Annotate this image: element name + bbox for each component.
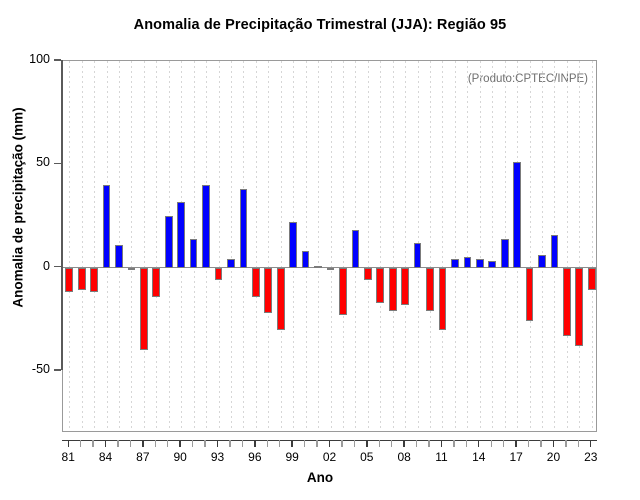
grid-line bbox=[405, 61, 406, 431]
x-tick bbox=[366, 440, 367, 447]
bar-22 bbox=[575, 268, 583, 347]
x-tick-label: 08 bbox=[389, 450, 419, 464]
bar-13 bbox=[464, 257, 472, 267]
x-tick bbox=[80, 440, 81, 447]
grid-line bbox=[430, 61, 431, 431]
bar-98 bbox=[277, 268, 285, 330]
bar-81 bbox=[65, 268, 73, 293]
grid-line bbox=[455, 61, 456, 431]
x-tick-label: 05 bbox=[352, 450, 382, 464]
grid-line bbox=[542, 61, 543, 431]
x-tick bbox=[304, 440, 305, 447]
x-tick bbox=[491, 440, 492, 447]
grid-line bbox=[380, 61, 381, 431]
y-tick bbox=[54, 59, 61, 61]
x-tick-label: 90 bbox=[165, 450, 195, 464]
bar-88 bbox=[152, 268, 160, 297]
bar-15 bbox=[488, 261, 496, 267]
bar-23 bbox=[588, 268, 596, 291]
bar-86 bbox=[128, 268, 136, 270]
x-tick bbox=[142, 440, 143, 447]
bar-06 bbox=[376, 268, 384, 303]
x-tick bbox=[565, 440, 566, 447]
grid-line bbox=[268, 61, 269, 431]
x-tick-label: 23 bbox=[576, 450, 606, 464]
bar-03 bbox=[339, 268, 347, 316]
grid-line bbox=[368, 61, 369, 431]
x-tick-label: 81 bbox=[53, 450, 83, 464]
x-tick-label: 11 bbox=[426, 450, 456, 464]
grid-line bbox=[131, 61, 132, 431]
grid-line bbox=[69, 61, 70, 431]
x-tick bbox=[316, 440, 317, 447]
bar-93 bbox=[215, 268, 223, 280]
grid-line bbox=[331, 61, 332, 431]
bar-01 bbox=[314, 266, 322, 268]
bar-19 bbox=[538, 255, 546, 267]
grid-line bbox=[567, 61, 568, 431]
bar-84 bbox=[103, 185, 111, 268]
bar-12 bbox=[451, 259, 459, 267]
x-tick bbox=[291, 440, 292, 447]
grid-line bbox=[480, 61, 481, 431]
x-tick bbox=[354, 440, 355, 447]
bar-99 bbox=[289, 222, 297, 267]
bar-20 bbox=[551, 235, 559, 268]
chart-title: Anomalia de Precipitação Trimestral (JJA… bbox=[0, 17, 640, 33]
x-tick bbox=[130, 440, 131, 447]
plot-area: (Produto:CPTEC/INPE) bbox=[62, 60, 597, 432]
bar-97 bbox=[264, 268, 272, 313]
x-tick-label: 14 bbox=[464, 450, 494, 464]
x-tick bbox=[267, 440, 268, 447]
x-tick bbox=[453, 440, 454, 447]
x-tick bbox=[92, 440, 93, 447]
bar-08 bbox=[401, 268, 409, 305]
bar-16 bbox=[501, 239, 509, 268]
bar-09 bbox=[414, 243, 422, 268]
x-tick-label: 20 bbox=[538, 450, 568, 464]
bar-90 bbox=[177, 202, 185, 268]
y-tick bbox=[54, 266, 61, 268]
grid-line bbox=[492, 61, 493, 431]
x-tick bbox=[155, 440, 156, 447]
x-tick bbox=[192, 440, 193, 447]
grid-line bbox=[530, 61, 531, 431]
y-tick bbox=[54, 369, 61, 371]
y-tick-label: 100 bbox=[4, 52, 50, 66]
grid-line bbox=[306, 61, 307, 431]
x-tick-label: 99 bbox=[277, 450, 307, 464]
x-tick-label: 96 bbox=[240, 450, 270, 464]
bar-95 bbox=[240, 189, 248, 268]
y-tick-label: 50 bbox=[4, 155, 50, 169]
bar-17 bbox=[513, 162, 521, 267]
chart-root: Anomalia de Precipitação Trimestral (JJA… bbox=[0, 0, 640, 500]
x-tick bbox=[515, 440, 516, 447]
grid-line bbox=[256, 61, 257, 431]
x-tick bbox=[403, 440, 404, 447]
bar-91 bbox=[190, 239, 198, 268]
bar-04 bbox=[352, 230, 360, 267]
x-tick-label: 02 bbox=[315, 450, 345, 464]
grid-line bbox=[156, 61, 157, 431]
x-tick bbox=[441, 440, 442, 447]
y-axis-spine bbox=[61, 60, 63, 370]
grid-line bbox=[281, 61, 282, 431]
x-tick bbox=[105, 440, 106, 447]
x-tick-label: 17 bbox=[501, 450, 531, 464]
bar-10 bbox=[426, 268, 434, 311]
x-tick bbox=[229, 440, 230, 447]
x-tick bbox=[217, 440, 218, 447]
grid-line bbox=[579, 61, 580, 431]
y-tick-label: 0 bbox=[4, 259, 50, 273]
plot-inner: (Produto:CPTEC/INPE) bbox=[63, 61, 596, 431]
bar-94 bbox=[227, 259, 235, 267]
x-tick bbox=[528, 440, 529, 447]
bar-21 bbox=[563, 268, 571, 336]
grid-line bbox=[467, 61, 468, 431]
bar-14 bbox=[476, 259, 484, 267]
grid-line bbox=[219, 61, 220, 431]
bar-83 bbox=[90, 268, 98, 293]
x-tick bbox=[553, 440, 554, 447]
bar-89 bbox=[165, 216, 173, 268]
x-tick bbox=[428, 440, 429, 447]
grid-line bbox=[592, 61, 593, 431]
bar-18 bbox=[526, 268, 534, 322]
bar-87 bbox=[140, 268, 148, 351]
grid-line bbox=[442, 61, 443, 431]
bar-00 bbox=[302, 251, 310, 268]
x-tick bbox=[117, 440, 118, 447]
x-tick bbox=[391, 440, 392, 447]
x-tick-label: 87 bbox=[128, 450, 158, 464]
grid-line bbox=[318, 61, 319, 431]
x-tick bbox=[279, 440, 280, 447]
x-tick bbox=[578, 440, 579, 447]
x-tick bbox=[466, 440, 467, 447]
grid-line bbox=[393, 61, 394, 431]
bar-05 bbox=[364, 268, 372, 280]
x-tick bbox=[254, 440, 255, 447]
x-tick bbox=[590, 440, 591, 447]
x-tick bbox=[167, 440, 168, 447]
x-tick bbox=[204, 440, 205, 447]
x-tick bbox=[503, 440, 504, 447]
x-tick bbox=[379, 440, 380, 447]
x-tick-label: 84 bbox=[91, 450, 121, 464]
x-tick bbox=[341, 440, 342, 447]
grid-line bbox=[144, 61, 145, 431]
grid-line bbox=[343, 61, 344, 431]
bar-92 bbox=[202, 185, 210, 268]
bar-85 bbox=[115, 245, 123, 268]
x-tick bbox=[179, 440, 180, 447]
product-annotation: (Produto:CPTEC/INPE) bbox=[468, 73, 588, 85]
x-tick bbox=[540, 440, 541, 447]
x-tick bbox=[242, 440, 243, 447]
x-tick bbox=[478, 440, 479, 447]
x-tick-label: 93 bbox=[203, 450, 233, 464]
bar-02 bbox=[327, 268, 335, 270]
grid-line bbox=[94, 61, 95, 431]
y-tick bbox=[54, 163, 61, 165]
y-tick-label: -50 bbox=[4, 362, 50, 376]
bar-11 bbox=[439, 268, 447, 330]
bar-96 bbox=[252, 268, 260, 297]
bar-82 bbox=[78, 268, 86, 291]
grid-line bbox=[231, 61, 232, 431]
y-axis-label: Anomalia de precipitação (mm) bbox=[11, 38, 26, 378]
x-axis-label: Ano bbox=[0, 470, 640, 485]
x-tick bbox=[68, 440, 69, 447]
grid-line bbox=[82, 61, 83, 431]
x-tick bbox=[416, 440, 417, 447]
x-tick bbox=[329, 440, 330, 447]
bar-07 bbox=[389, 268, 397, 311]
